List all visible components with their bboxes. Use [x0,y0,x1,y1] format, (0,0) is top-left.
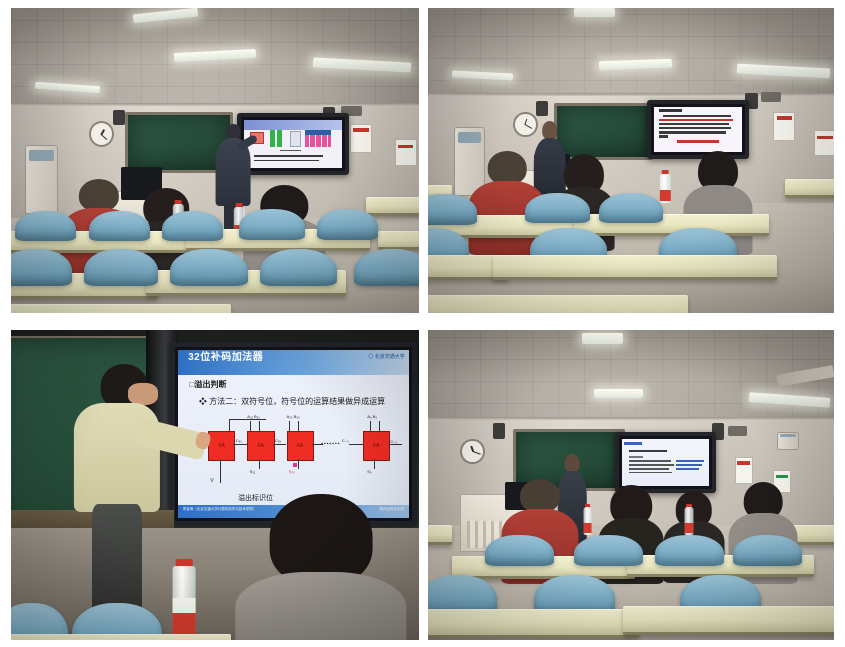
output-label: S₃₀ [289,469,295,474]
torso [235,572,406,640]
full-adder-block: FA [287,431,314,461]
wall-clock [460,439,484,465]
slide-bullet: ❖ 方法二：双符号位，符号位的运算结果做异成运算 [199,396,385,407]
ceiling [428,8,834,103]
projector-icon [761,92,781,102]
ceiling-light [582,333,623,344]
chair [733,535,802,566]
speaker-icon [536,101,548,116]
chair [354,249,419,286]
wall-poster [773,112,795,141]
wire [312,444,324,445]
carry-label: C₂₉ [275,438,281,443]
projection-screen [615,432,716,493]
chair [655,535,724,566]
chair [84,249,157,286]
full-adder-block: FA [363,431,390,461]
wall-poster [350,124,372,153]
photo-grid: 32位补码加法器 ◎ 北京交通大学 □溢出判断 ❖ 方法二：双符号位，符号位的运… [0,0,845,647]
output-label: S₀ [367,469,371,474]
chair [260,249,338,286]
wall-poster [735,457,753,484]
side-desk [785,179,834,198]
chair [162,211,223,242]
projection-screen [237,113,349,174]
university-logo: ◎ 北京交通大学 [368,353,404,360]
wire [349,444,363,445]
wire [289,421,290,431]
photo-bottom-right [428,330,834,640]
water-bottle [170,559,199,640]
air-conditioner [25,145,58,214]
coat-hooks [785,466,822,471]
photo-bottom-left: 32位补码加法器 ◎ 北京交通大学 □溢出判断 ❖ 方法二：双符号位，符号位的运… [11,330,419,640]
presenter [72,364,162,606]
wire [250,421,251,431]
wire [298,421,299,431]
chair [599,193,664,224]
wire [379,421,380,431]
wall-poster [395,139,417,165]
ceiling-light [574,8,615,17]
slide-content [622,439,709,486]
carry-label: C₋₀ [342,438,349,443]
chair [89,211,150,242]
water-bottle [582,504,593,535]
slide-content: 32位补码加法器 ◎ 北京交通大学 □溢出判断 ❖ 方法二：双符号位，符号位的运… [178,350,409,518]
wire [374,459,375,469]
wall-poster [814,130,834,156]
slide-heading: □溢出判断 [190,379,227,390]
student-desk [11,634,231,640]
speaker-icon [493,423,505,439]
wire [233,444,247,445]
chalkboard [554,103,653,161]
student-desk [428,609,639,638]
ellipsis: ▪▪▪▪▪▪▪ [321,441,340,447]
slide-content [244,120,342,167]
carry-label: C₃₀ [236,438,242,443]
side-desk [366,197,419,216]
ceiling [428,330,834,426]
wire [229,419,266,420]
wire [259,459,260,469]
attendee-grey-top [235,494,406,640]
water-bottle [659,170,671,204]
student-desk [11,304,231,313]
wire [370,421,371,431]
student-desk [623,606,834,635]
full-adder-block: FA [247,431,274,461]
chair [525,193,590,224]
chair [170,249,248,286]
side-desk [428,525,452,545]
input-label: A₃₀ B₃₀ [287,414,300,419]
slide-title-bar [244,120,342,130]
student-desk [428,295,688,313]
output-label: S₃₁ [250,469,256,474]
side-desk [378,231,419,250]
wire [273,444,287,445]
chair [317,209,378,240]
slide-content [654,107,741,153]
wire [298,459,299,469]
photo-top-right [428,8,834,313]
student-desk [493,255,777,280]
wire [388,444,402,445]
photo-top-left [11,8,419,313]
wire [259,421,260,431]
speaker-icon [113,110,125,125]
chair [485,535,554,566]
ceiling-light [594,389,643,398]
wall-clock [89,121,114,147]
water-bottle [684,504,695,535]
chair [574,535,643,566]
input-label: A₀ B₀ [367,414,377,419]
chair [239,209,304,240]
projector-icon [728,426,746,436]
chair [15,211,76,242]
overflow-label: V [210,478,213,484]
full-adder-block: FA [208,431,235,461]
wire [220,459,221,482]
wall-unit [777,432,799,450]
